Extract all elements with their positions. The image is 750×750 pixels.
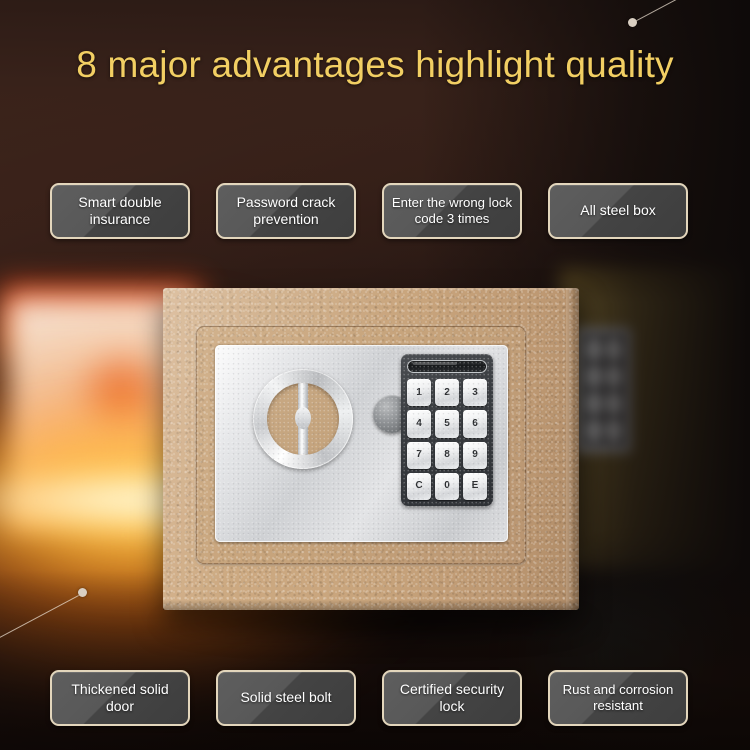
advantage-badge-wrong-lock-code[interactable]: Enter the wrong lock code 3 times [382,183,522,239]
advantage-badge-certified-security-lock[interactable]: Certified security lock [382,670,522,726]
connector-dot-bottom-left [78,588,87,597]
advantage-label: Password crack prevention [218,194,354,229]
keypad-key-5[interactable]: 5 [435,410,459,437]
lcd-display [407,360,487,373]
keypad-key-0[interactable]: 0 [435,473,459,500]
page-title: 8 major advantages highlight quality [0,44,750,86]
product-advantages-poster: 8 major advantages highlight quality Sma… [0,0,750,750]
safe-bottom-bevel [163,600,579,610]
advantage-badge-solid-steel-bolt[interactable]: Solid steel bolt [216,670,356,726]
advantage-label: Enter the wrong lock code 3 times [384,195,520,228]
advantage-label: All steel box [576,202,659,220]
keypad-key-2[interactable]: 2 [435,379,459,406]
safe-body: 1 2 3 4 5 6 7 8 9 C 0 E [163,288,579,610]
turn-knob-icon[interactable] [373,395,411,433]
keypad-key-4[interactable]: 4 [407,410,431,437]
keypad-key-enter[interactable]: E [463,473,487,500]
keypad-key-1[interactable]: 1 [407,379,431,406]
keyhole-bar [298,383,308,455]
keypad-module[interactable]: 1 2 3 4 5 6 7 8 9 C 0 E [401,354,493,506]
advantage-badge-rust-corrosion-resistant[interactable]: Rust and corrosion resistant [548,670,688,726]
safe-door-panel[interactable]: 1 2 3 4 5 6 7 8 9 C 0 E [196,326,526,564]
advantage-badge-password-crack-prevention[interactable]: Password crack prevention [216,183,356,239]
keypad-key-7[interactable]: 7 [407,442,431,469]
advantage-label: Thickened solid door [52,681,188,716]
safe-faceplate: 1 2 3 4 5 6 7 8 9 C 0 E [215,345,508,542]
key-escutcheon-icon[interactable] [253,369,353,469]
keyhole [267,383,339,455]
advantage-badge-smart-double-insurance[interactable]: Smart double insurance [50,183,190,239]
advantage-label: Smart double insurance [52,194,188,229]
keypad-key-6[interactable]: 6 [463,410,487,437]
advantage-label: Rust and corrosion resistant [550,682,686,715]
keypad-key-8[interactable]: 8 [435,442,459,469]
safe-right-bevel [566,288,579,610]
advantage-label: Certified security lock [384,681,520,716]
keypad-key-9[interactable]: 9 [463,442,487,469]
advantage-label: Solid steel bolt [236,689,335,707]
keypad-key-3[interactable]: 3 [463,379,487,406]
keypad-key-clear[interactable]: C [407,473,431,500]
keypad-keys: 1 2 3 4 5 6 7 8 9 C 0 E [407,379,487,500]
connector-dot-top-right [628,18,637,27]
advantage-badge-all-steel-box[interactable]: All steel box [548,183,688,239]
advantage-badge-thickened-solid-door[interactable]: Thickened solid door [50,670,190,726]
